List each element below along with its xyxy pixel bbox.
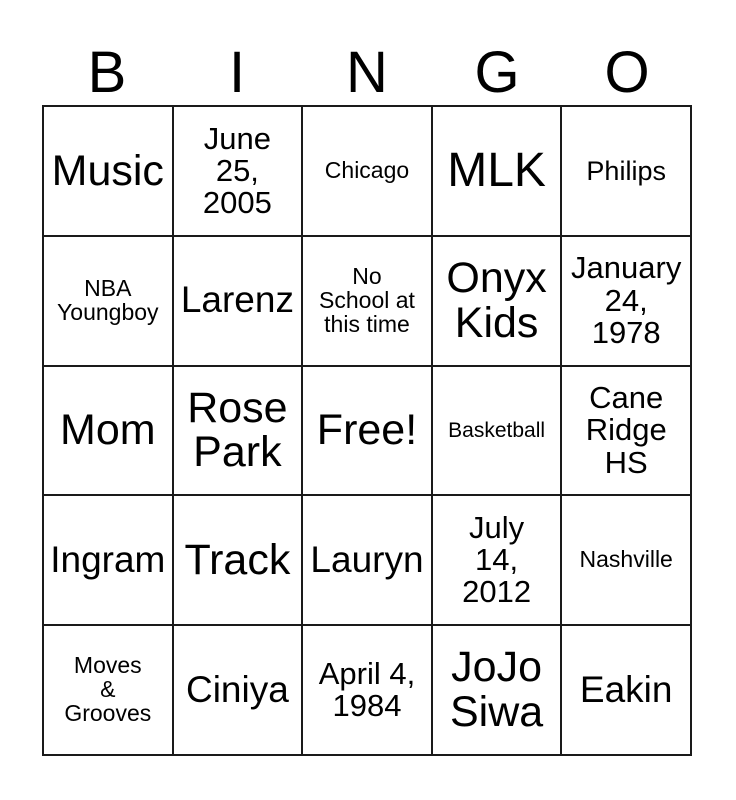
bingo-header-letter-o: O [562, 44, 692, 102]
bingo-cell-label: Mom [46, 408, 170, 453]
bingo-header: B I N G O [42, 28, 692, 102]
bingo-cell-label: Philips [564, 157, 688, 185]
bingo-cell-label: Track [176, 538, 300, 583]
bingo-cell-label: Ciniya [176, 671, 300, 709]
bingo-cell-label: Music [46, 149, 170, 194]
bingo-cell-label: April 4, 1984 [305, 658, 429, 722]
bingo-cell-o3[interactable]: Cane Ridge HS [562, 367, 692, 497]
bingo-cell-label: Cane Ridge HS [564, 382, 688, 479]
bingo-cell-free-space[interactable]: Free! [303, 367, 433, 497]
bingo-cell-i5[interactable]: Ciniya [174, 626, 304, 756]
bingo-cell-b1[interactable]: Music [44, 107, 174, 237]
bingo-cell-label: Rose Park [176, 386, 300, 475]
bingo-cell-label: Nashville [564, 548, 688, 572]
bingo-cell-i1[interactable]: June 25, 2005 [174, 107, 304, 237]
bingo-cell-g3[interactable]: Basketball [433, 367, 563, 497]
bingo-cell-label: Basketball [435, 420, 559, 442]
bingo-cell-o4[interactable]: Nashville [562, 496, 692, 626]
bingo-header-letter-n: N [302, 44, 432, 102]
bingo-cell-label: Chicago [305, 159, 429, 183]
bingo-cell-i3[interactable]: Rose Park [174, 367, 304, 497]
bingo-cell-label: Lauryn [305, 541, 429, 579]
bingo-cell-n4[interactable]: Lauryn [303, 496, 433, 626]
bingo-cell-label: Onyx Kids [435, 256, 559, 345]
bingo-cell-b4[interactable]: Ingram [44, 496, 174, 626]
bingo-cell-label: Ingram [46, 541, 170, 579]
bingo-cell-label: No School at this time [305, 265, 429, 337]
bingo-cell-label: Eakin [564, 671, 688, 709]
bingo-cell-label: NBA Youngboy [46, 277, 170, 325]
bingo-cell-label: January 24, 1978 [564, 252, 688, 349]
bingo-grid: MusicJune 25, 2005ChicagoMLKPhilipsNBA Y… [42, 105, 692, 756]
bingo-cell-o5[interactable]: Eakin [562, 626, 692, 756]
bingo-cell-label: Free! [305, 408, 429, 453]
bingo-cell-o1[interactable]: Philips [562, 107, 692, 237]
bingo-cell-n1[interactable]: Chicago [303, 107, 433, 237]
bingo-card: B I N G O MusicJune 25, 2005ChicagoMLKPh… [0, 0, 736, 800]
bingo-header-letter-g: G [432, 44, 562, 102]
bingo-cell-n5[interactable]: April 4, 1984 [303, 626, 433, 756]
bingo-cell-label: June 25, 2005 [176, 123, 300, 220]
bingo-header-letter-b: B [42, 44, 172, 102]
bingo-cell-label: JoJo Siwa [435, 645, 559, 734]
bingo-cell-g1[interactable]: MLK [433, 107, 563, 237]
bingo-cell-label: July 14, 2012 [435, 512, 559, 609]
bingo-cell-g2[interactable]: Onyx Kids [433, 237, 563, 367]
bingo-header-letter-i: I [172, 44, 302, 102]
bingo-cell-label: MLK [435, 146, 559, 196]
bingo-cell-n2[interactable]: No School at this time [303, 237, 433, 367]
bingo-cell-g4[interactable]: July 14, 2012 [433, 496, 563, 626]
bingo-cell-i2[interactable]: Larenz [174, 237, 304, 367]
bingo-cell-i4[interactable]: Track [174, 496, 304, 626]
bingo-cell-b3[interactable]: Mom [44, 367, 174, 497]
bingo-cell-b5[interactable]: Moves & Grooves [44, 626, 174, 756]
bingo-cell-o2[interactable]: January 24, 1978 [562, 237, 692, 367]
bingo-cell-label: Larenz [176, 281, 300, 319]
bingo-cell-g5[interactable]: JoJo Siwa [433, 626, 563, 756]
bingo-cell-b2[interactable]: NBA Youngboy [44, 237, 174, 367]
bingo-cell-label: Moves & Grooves [46, 654, 170, 726]
